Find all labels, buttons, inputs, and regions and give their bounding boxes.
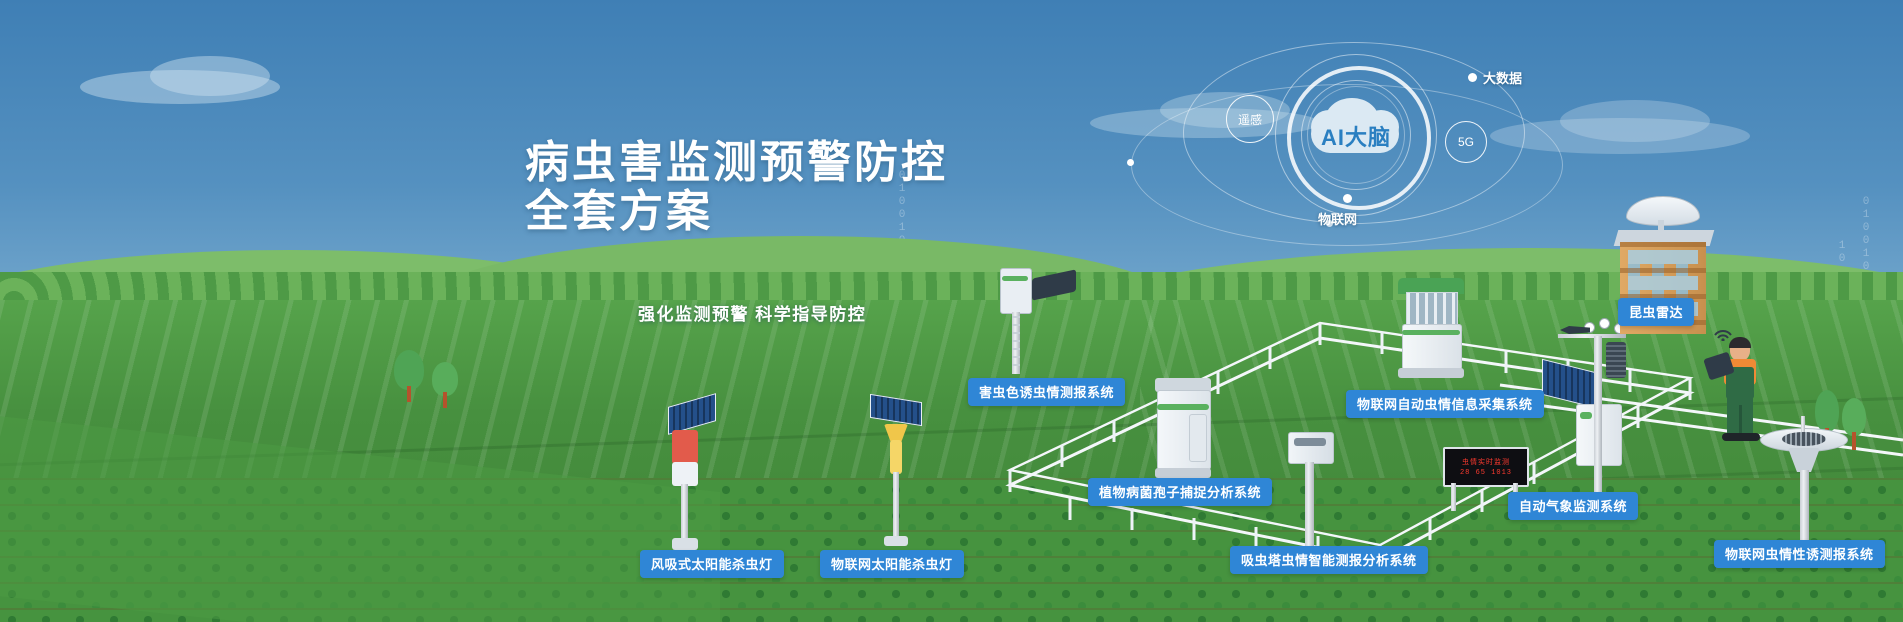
tree-trunk [1852,432,1856,450]
spore-base [1155,468,1211,478]
ladder-rungs [1012,316,1020,372]
collector-green-band [1402,330,1460,335]
ai-hub: AI大脑 遥感 大数据 5G 物联网 [1243,32,1543,232]
title-line-2: 全套方案 [525,187,948,236]
lure-funnel [1788,448,1820,472]
lamp-tube [890,440,902,474]
node-bigdata-dot [1468,73,1477,82]
label-automatic-weather-monitoring-system[interactable]: 自动气象监测系统 [1508,492,1638,520]
label-iot-automatic-pest-info-collection-system[interactable]: 物联网自动虫情信息采集系统 [1346,390,1544,418]
label-insect-radar[interactable]: 昆虫雷达 [1618,298,1694,326]
led-pole-left [1451,483,1456,511]
label-plant-pathogen-spore-capture-analysis-system[interactable]: 植物病菌孢子捕捉分析系统 [1088,478,1272,506]
led-face: 虫情实时监测 28 65 1013 [1443,447,1529,487]
label-suction-tower-pest-intelligent-forecast-analysis-system[interactable]: 吸虫塔虫情智能测报分析系统 [1230,546,1428,574]
radiation-shield [1606,342,1626,378]
tower-head [1288,432,1334,464]
tree-trunk [407,386,411,402]
lure-green-strip [1002,276,1028,281]
node-remote-sensing: 遥感 [1226,95,1274,143]
orbit-endpoint-right [1326,220,1333,227]
tree-crown [394,350,424,390]
node-remote-sensing-label: 遥感 [1238,111,1262,128]
lure-cabinet [1000,268,1032,314]
lamp-head [672,430,698,464]
tower-pole [1305,462,1314,554]
page-title: 病虫害监测预警防控 全套方案 [525,138,948,236]
device-plant-pathogen-spore-capture-analysis-system [1155,378,1215,488]
solar-panel [870,394,922,426]
tree-left-1 [392,350,426,402]
field-worker [1700,325,1770,445]
spore-green-band [1157,404,1209,410]
device-pest-color-lure-forecast-system [992,268,1082,378]
tree-trunk [443,392,447,408]
solar-panel [1542,359,1600,409]
node-iot-label: 物联网 [1318,209,1357,228]
tower-intake [1294,438,1326,446]
weather-green-logo [1580,412,1592,419]
lure-needle [1801,416,1805,432]
lamp-base [672,538,698,550]
label-pest-color-lure-forecast-system[interactable]: 害虫色诱虫情测报系统 [968,378,1125,406]
collector-base [1398,368,1464,378]
page-subtitle: 强化监测预警 科学指导防控 [638,300,866,325]
tree-left-2 [430,362,460,408]
person-shoes [1722,433,1760,441]
lure-panel-dark [1032,269,1076,300]
ai-center-label: AI大脑 [1321,120,1391,152]
orbit-endpoint-left [1127,159,1134,166]
node-5g: 5G [1445,121,1487,163]
weather-mast [1594,336,1602,508]
device-iot-automatic-pest-info-collection-system [1392,278,1472,388]
node-iot-dot [1343,194,1352,203]
spore-door-panel [1189,414,1207,462]
cloud-decor-2 [150,56,270,96]
node-5g-label: 5G [1458,135,1474,149]
title-line-1: 病虫害监测预警防控 [525,138,948,187]
led-line-1: 虫情实时监测 [1462,457,1510,467]
device-suction-tower-pest-intelligent-forecast-analysis-system [1286,432,1336,562]
label-wind-suction-solar-insect-lamp[interactable]: 风吸式太阳能杀虫灯 [640,550,784,578]
person-leg-split [1739,405,1742,435]
lamp-body [672,462,698,486]
label-iot-pest-pheromone-lure-forecast-system[interactable]: 物联网虫情性诱测报系统 [1714,540,1885,568]
device-automatic-weather-monitoring-system [1540,318,1650,508]
device-iot-solar-insect-lamp [862,398,932,548]
label-iot-solar-insect-lamp[interactable]: 物联网太阳能杀虫灯 [820,550,964,578]
infographic-banner: 010010110100101101001011010 010010110100… [0,0,1903,622]
tree-crown [432,362,458,396]
lamp-pole [681,484,688,542]
lure-grill [1782,432,1826,446]
led-line-2: 28 65 1013 [1460,469,1512,477]
cloud-decor-6 [1560,100,1710,142]
node-bigdata-label: 大数据 [1483,68,1522,87]
collector-cage [1406,292,1458,326]
wifi-icon [1712,325,1734,341]
lamp-base [884,536,908,546]
person-hair [1729,337,1751,348]
lamp-pole [893,472,899,538]
solar-panel [668,393,716,435]
device-wind-suction-solar-insect-lamp [648,400,718,550]
